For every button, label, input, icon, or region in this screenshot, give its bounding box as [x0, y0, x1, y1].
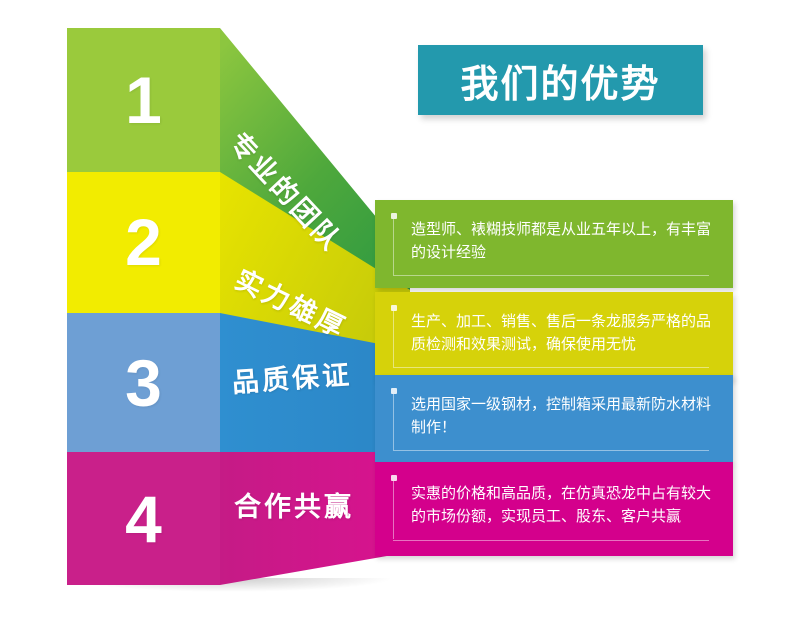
step-block-2: 2 — [67, 170, 220, 313]
description-panel-4: 实惠的价格和高品质，在仿真恐龙中占有较大的市场份额，实现员工、股东、客户共赢 — [375, 462, 733, 556]
bullet-underline-2 — [393, 367, 709, 368]
description-text-3: 选用国家一级钢材，控制箱采用最新防水材料制作！ — [411, 393, 713, 440]
bullet-dot-icon-4 — [391, 475, 397, 481]
bullet-dot-icon-2 — [391, 305, 397, 311]
description-panel-1: 造型师、裱糊技师都是从业五年以上，有丰富的设计经验 — [375, 200, 733, 288]
bullet-dot-icon-3 — [391, 388, 397, 394]
bullet-underline-3 — [393, 450, 709, 451]
bullet-rule-4 — [393, 481, 394, 539]
bullet-rule-1 — [393, 219, 394, 275]
step-block-1: 1 — [67, 28, 220, 172]
bullet-rule-3 — [393, 394, 394, 450]
step-label-4: 合作共赢 — [234, 485, 354, 524]
step-block-4: 4 — [67, 452, 220, 585]
bullet-dot-icon-1 — [391, 213, 397, 219]
step-number-4: 4 — [125, 486, 162, 552]
bullet-rule-2 — [393, 311, 394, 367]
step-block-3: 3 — [67, 313, 220, 452]
step-label-3: 品质保证 — [231, 353, 353, 400]
step-number-3: 3 — [125, 350, 162, 416]
step-number-2: 2 — [125, 209, 162, 275]
description-text-4: 实惠的价格和高品质，在仿真恐龙中占有较大的市场份额，实现员工、股东、客户共赢 — [411, 482, 713, 529]
step-number-1: 1 — [125, 67, 162, 133]
bullet-underline-4 — [393, 540, 709, 541]
page-title: 我们的优势 — [460, 53, 660, 108]
infographic-root: 我们的优势 合作共赢 4 — [0, 0, 800, 622]
description-text-1: 造型师、裱糊技师都是从业五年以上，有丰富的设计经验 — [411, 218, 713, 265]
description-panel-2: 生产、加工、销售、售后一条龙服务严格的品质检测和效果测试，确保使用无忧 — [375, 292, 733, 380]
bullet-underline-1 — [393, 275, 709, 276]
page-title-banner: 我们的优势 — [418, 45, 703, 115]
description-panel-3: 选用国家一级钢材，控制箱采用最新防水材料制作！ — [375, 375, 733, 463]
description-text-2: 生产、加工、销售、售后一条龙服务严格的品质检测和效果测试，确保使用无忧 — [411, 310, 713, 357]
